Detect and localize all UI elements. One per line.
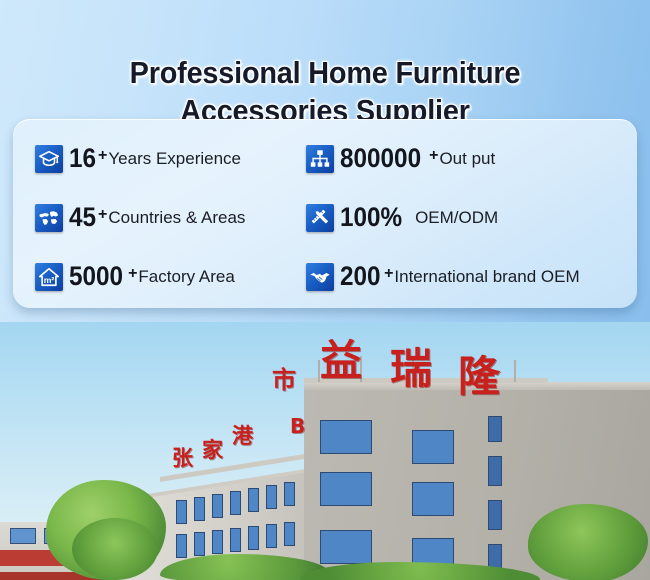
- tree: [72, 518, 158, 580]
- stat-suffix: +: [384, 266, 393, 282]
- world-map-icon: [35, 204, 63, 232]
- window: [212, 530, 223, 554]
- window: [488, 416, 502, 442]
- stat-item-output: 800000+ Out put: [303, 145, 637, 173]
- org-chart-icon: [306, 145, 334, 173]
- window: [10, 528, 36, 544]
- promo-banner: Professional Home Furniture Accessories …: [0, 0, 650, 580]
- stat-label: International brand OEM: [394, 267, 579, 286]
- house-square-meter-icon: m²: [35, 263, 63, 291]
- pencil-ruler-design-icon: [306, 204, 334, 232]
- stat-item-countries: 45+ Countries & Areas: [13, 204, 303, 232]
- window: [284, 482, 295, 506]
- side-sign-char: 家: [202, 440, 223, 461]
- stat-suffix: +: [98, 207, 107, 223]
- headline-line-1: Professional Home Furniture: [130, 55, 521, 90]
- stat-value: 45: [69, 204, 96, 231]
- window: [266, 485, 277, 509]
- stats-row: 16+ Years Experience 800000+ Out put: [13, 129, 637, 188]
- handshake-icon: [306, 263, 334, 291]
- roof-sign-char: 瑞: [390, 348, 432, 390]
- window: [488, 500, 502, 530]
- stats-row: m² 5000+ Factory Area 200+ International…: [13, 247, 637, 306]
- stat-label: Years Experience: [108, 149, 241, 168]
- stat-value: 100%: [340, 204, 402, 231]
- window: [320, 472, 372, 506]
- roof-sign-char: 益: [320, 340, 362, 382]
- graduation-cap-icon: [35, 145, 63, 173]
- stat-value: 200: [340, 263, 381, 290]
- stat-item-factory-area: m² 5000+ Factory Area: [13, 263, 303, 291]
- window: [176, 534, 187, 558]
- window: [230, 491, 241, 515]
- window: [320, 530, 372, 564]
- window: [488, 456, 502, 486]
- stat-value: 16: [69, 145, 96, 172]
- stat-label: Countries & Areas: [108, 208, 245, 227]
- roof-sign-char: 隆: [458, 356, 500, 398]
- side-sign-letter: B: [290, 416, 305, 436]
- window: [176, 500, 187, 524]
- stats-row: 45+ Countries & Areas: [13, 188, 637, 247]
- window: [194, 497, 205, 521]
- window: [248, 526, 259, 550]
- stat-label: Factory Area: [138, 267, 234, 286]
- stat-suffix: +: [98, 148, 107, 164]
- side-sign-char: 张: [172, 448, 193, 469]
- window: [194, 532, 205, 556]
- window: [284, 522, 295, 546]
- factory-building-photo: 益 瑞 隆 张 家 港 市 B: [0, 322, 650, 580]
- window: [412, 482, 454, 516]
- stat-suffix: +: [429, 148, 438, 164]
- side-sign-char: 港: [232, 426, 253, 447]
- window: [320, 420, 372, 454]
- stat-item-international-brand-oem: 200+ International brand OEM: [303, 263, 637, 291]
- stat-value: 800000: [340, 145, 421, 172]
- window: [212, 494, 223, 518]
- window: [248, 488, 259, 512]
- stat-label: Out put: [439, 149, 495, 168]
- stats-card: 16+ Years Experience 800000+ Out put: [13, 119, 637, 308]
- stat-label: OEM/ODM: [415, 208, 498, 227]
- stat-item-years-experience: 16+ Years Experience: [13, 145, 303, 173]
- svg-text:m²: m²: [44, 274, 55, 284]
- sign-post: [514, 360, 516, 382]
- stat-item-oem-odm: 100% OEM/ODM: [303, 204, 637, 232]
- stat-suffix: +: [128, 266, 137, 282]
- stat-value: 5000: [69, 263, 123, 290]
- window: [266, 524, 277, 548]
- tree: [528, 504, 648, 580]
- window: [412, 430, 454, 464]
- side-sign-char: 市: [272, 368, 296, 392]
- window: [230, 528, 241, 552]
